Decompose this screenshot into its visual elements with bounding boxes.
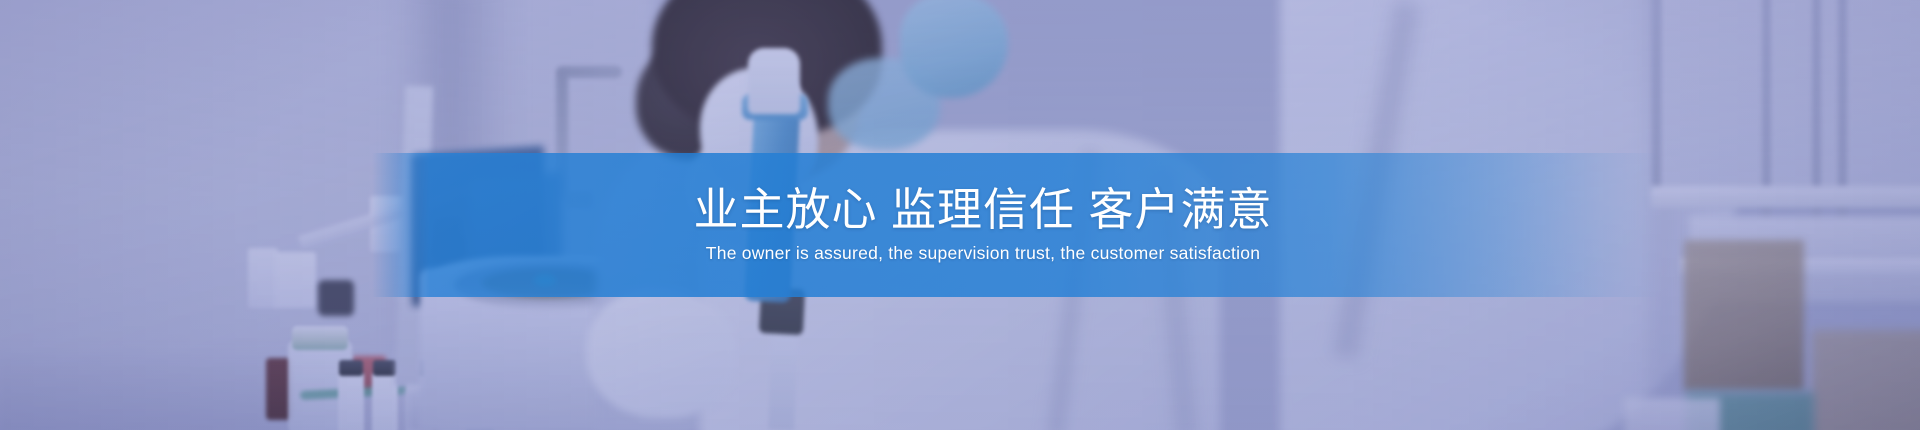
hero-banner: 业主放心 监理信任 客户满意 The owner is assured, the… <box>0 0 1920 430</box>
banner-headline: 业主放心 监理信任 客户满意 <box>693 186 1272 235</box>
banner-text-block: 业主放心 监理信任 客户满意 The owner is assured, the… <box>0 153 1920 297</box>
banner-subheadline: The owner is assured, the supervision tr… <box>706 243 1260 264</box>
